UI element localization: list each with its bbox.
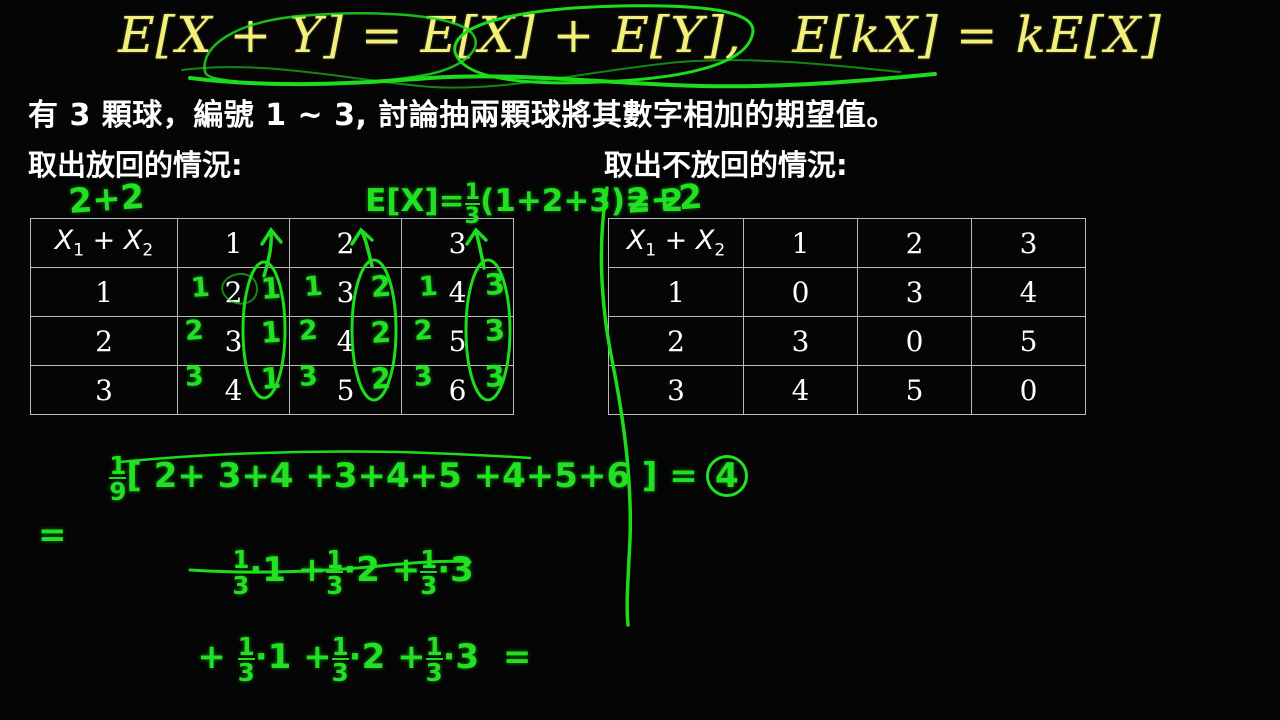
expansion2-f2-den: 3 bbox=[332, 658, 349, 684]
table-row: 3 4 5 0 bbox=[609, 366, 1086, 415]
table-col-header-3: 3 bbox=[972, 219, 1086, 268]
header-var: X bbox=[55, 225, 74, 256]
table-col-header-1: 1 bbox=[178, 219, 290, 268]
expansion2-lead: + bbox=[197, 637, 226, 677]
average-fraction: 19 bbox=[109, 454, 126, 504]
expansion1-f2-den: 3 bbox=[326, 571, 343, 597]
ink-col-index-c1r1: 1 bbox=[260, 271, 283, 306]
table-cell: 0 bbox=[744, 268, 858, 317]
ink-squiggle-underline-2 bbox=[182, 60, 900, 87]
ink-row-index-c3r2: 2 bbox=[413, 315, 434, 347]
expansion1-term-2: ·2 + bbox=[343, 550, 420, 590]
header-var-2: X bbox=[124, 225, 143, 256]
expansion2-fraction-2: 13 bbox=[332, 635, 349, 685]
table-header-x1x2: X1 + X2 bbox=[31, 219, 178, 268]
expectation-fraction-denominator: 3 bbox=[465, 203, 481, 227]
ink-row-index-c2r3: 3 bbox=[298, 361, 319, 393]
table-cell: 5 bbox=[858, 366, 972, 415]
expansion2-f2-num: 1 bbox=[332, 635, 349, 658]
handwritten-expansion-line-2: + 13·1 +13·2 +13·3 = bbox=[150, 595, 531, 720]
slide-canvas: E[X + Y] = E[X] + E[Y], E[kX] = kE[X] 有 … bbox=[0, 0, 1280, 720]
table-row-label-1: 1 bbox=[609, 268, 744, 317]
ink-row-index-c2r2: 2 bbox=[298, 315, 319, 347]
expectation-fraction-numerator: 1 bbox=[465, 182, 481, 203]
table-row: 1 0 3 4 bbox=[609, 268, 1086, 317]
expansion1-fraction-3: 13 bbox=[420, 548, 437, 598]
ink-squiggle-underline bbox=[190, 74, 935, 86]
table-row-label-2: 2 bbox=[609, 317, 744, 366]
table-row-label-3: 3 bbox=[609, 366, 744, 415]
ink-col-index-c2r2: 2 bbox=[370, 315, 393, 350]
expansion2-term-1: ·1 + bbox=[255, 637, 332, 677]
sum-annotation-left: 2+2 bbox=[67, 177, 145, 222]
header-sub-2: 2 bbox=[714, 241, 725, 261]
expansion1-f1-num: 1 bbox=[232, 548, 249, 571]
table-cell: 3 bbox=[858, 268, 972, 317]
ink-col-index-c3r3: 3 bbox=[484, 359, 507, 394]
expansion1-fraction-2: 13 bbox=[326, 548, 343, 598]
table-cell: 5 bbox=[972, 317, 1086, 366]
expansion1-f3-den: 3 bbox=[420, 571, 437, 597]
expansion2-f1-den: 3 bbox=[238, 658, 255, 684]
header-sub-2: 2 bbox=[142, 241, 153, 261]
problem-statement: 有 3 顆球，編號 1 ~ 3, 討論抽兩顆球將其數字相加的期望值。 bbox=[28, 90, 897, 134]
expansion2-f3-den: 3 bbox=[426, 658, 443, 684]
table-cell: 0 bbox=[858, 317, 972, 366]
ink-col-index-c3r2: 3 bbox=[484, 313, 507, 348]
header-sub-1: 1 bbox=[73, 241, 84, 261]
average-fraction-denominator: 9 bbox=[109, 477, 126, 503]
expansion2-fraction-1: 13 bbox=[238, 635, 255, 685]
ink-row-index-c1r3: 3 bbox=[184, 361, 205, 393]
expansion2-term-2: ·2 + bbox=[349, 637, 426, 677]
sum-annotation-right: 2+2 bbox=[625, 177, 703, 222]
expansion1-fraction-1: 13 bbox=[232, 548, 249, 598]
ink-row-index-c1r2: 2 bbox=[184, 315, 205, 347]
ink-col-index-c1r2: 1 bbox=[260, 315, 283, 350]
expansion1-f3-num: 1 bbox=[420, 548, 437, 571]
expansion1-term-1: ·1 + bbox=[249, 550, 326, 590]
ink-col-index-c2r3: 2 bbox=[370, 361, 393, 396]
ink-col-index-c3r1: 3 bbox=[484, 267, 507, 302]
table-cell: 4 bbox=[972, 268, 1086, 317]
table-row: 2 3 0 5 bbox=[609, 317, 1086, 366]
table-cell: 4 bbox=[744, 366, 858, 415]
table-row-label-3: 3 bbox=[31, 366, 178, 415]
expansion2-f1-num: 1 bbox=[238, 635, 255, 658]
handwritten-equals-sign: = bbox=[38, 515, 67, 555]
ink-row-index-c3r3: 3 bbox=[413, 361, 434, 393]
table-cell: 3 bbox=[744, 317, 858, 366]
ink-row-index-c2r1: 1 bbox=[303, 271, 324, 303]
expansion1-term-3: ·3 bbox=[437, 550, 474, 590]
table-row-label-1: 1 bbox=[31, 268, 178, 317]
expectation-fraction: 13 bbox=[465, 182, 481, 227]
title-formula: E[X + Y] = E[X] + E[Y], E[kX] = kE[X] bbox=[0, 6, 1280, 64]
expansion1-f2-num: 1 bbox=[326, 548, 343, 571]
header-var-2: X bbox=[696, 225, 715, 256]
expansion2-term-3: ·3 = bbox=[443, 637, 532, 677]
ink-col-index-c1r3: 1 bbox=[260, 361, 283, 396]
ink-col-index-c2r1: 2 bbox=[370, 269, 393, 304]
header-plus: + bbox=[84, 225, 124, 256]
table-row-label-2: 2 bbox=[31, 317, 178, 366]
expansion1-f1-den: 3 bbox=[232, 571, 249, 597]
expectation-lead: E[X]= bbox=[365, 183, 464, 219]
average-result: 4 bbox=[706, 455, 748, 497]
average-body: [ 2+ 3+4 +3+4+5 +4+5+6 ] = bbox=[126, 456, 697, 496]
table-col-header-1: 1 bbox=[744, 219, 858, 268]
table-cell: 0 bbox=[972, 366, 1086, 415]
table-col-header-2: 2 bbox=[858, 219, 972, 268]
average-fraction-numerator: 1 bbox=[109, 454, 126, 477]
expansion2-f3-num: 1 bbox=[426, 635, 443, 658]
expansion2-fraction-3: 13 bbox=[426, 635, 443, 685]
ink-row-index-c1r1: 1 bbox=[190, 272, 211, 304]
ink-row-index-c3r1: 1 bbox=[418, 271, 439, 303]
